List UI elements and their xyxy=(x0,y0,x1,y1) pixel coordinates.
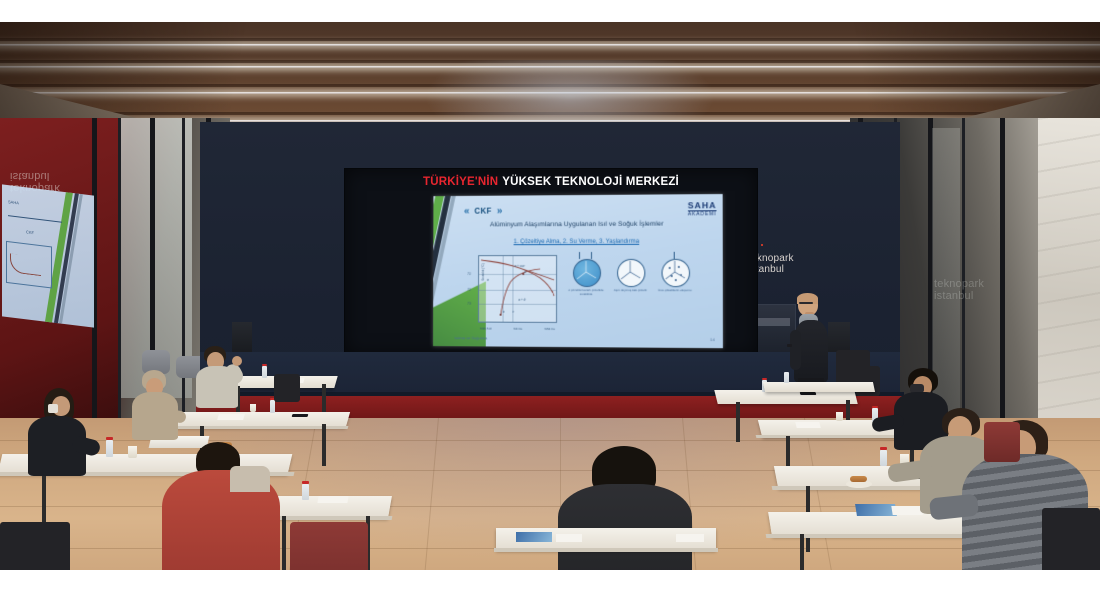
chair-accent xyxy=(290,522,368,570)
water-bottle xyxy=(262,366,267,378)
micro-diagram-2: Aşırı doymuş katı çözelti xyxy=(433,194,722,196)
smartphone xyxy=(800,392,817,395)
handout xyxy=(317,496,348,503)
presenter-table xyxy=(763,382,875,392)
phase-diagram: Sıcaklık (°C) α + sıvı xyxy=(478,255,557,323)
banner-white-text: YÜKSEK TEKNOLOJİ MERKEZİ xyxy=(502,176,679,188)
phase-diagram-xticks: %99,5 Al%4 Cu%54 Cu xyxy=(479,327,556,331)
presenter-clicker xyxy=(787,344,792,347)
led-video-wall: TÜRKİYE'NİN YÜKSEK TEKNOLOJİ MERKEZİ CKF xyxy=(344,168,758,356)
chair xyxy=(274,374,300,402)
paper-cup xyxy=(128,446,137,458)
paper-cup xyxy=(250,404,256,412)
presentation-slide: CKF SAHA AKADEMİ Alüminyum Alaşımlarına … xyxy=(433,194,723,348)
saha-akademi-logo: SAHA AKADEMİ xyxy=(688,201,717,218)
seminar-room-photo: teknopark istanbul SAHA CKF xyxy=(0,0,1100,600)
handout xyxy=(556,534,582,542)
paper-cup xyxy=(836,412,843,421)
handout xyxy=(795,422,820,428)
water-bottle xyxy=(784,372,789,383)
handout-blue xyxy=(516,532,552,542)
mirror-logo-right: teknopark istanbul xyxy=(934,278,984,302)
letterbox-top xyxy=(0,0,1100,22)
handout xyxy=(217,414,245,420)
chair xyxy=(1042,508,1100,570)
chair-accent xyxy=(984,422,1020,462)
handout xyxy=(891,506,922,515)
banner-red-text: TÜRKİYE'NİN xyxy=(423,176,498,188)
micro-diagram-1: α çözeltisi kararlı çözeltide sıcaklıkta xyxy=(433,194,722,196)
led-banner: TÜRKİYE'NİN YÜKSEK TEKNOLOJİ MERKEZİ xyxy=(345,173,757,191)
slide-subtitle: 1. Çözeltiye Alma, 2. Su Verme, 3. Yaşla… xyxy=(433,239,722,246)
smartphone xyxy=(292,414,309,417)
slide-page-number: 14 xyxy=(710,337,715,342)
water-bottle xyxy=(106,440,113,457)
letterbox-bottom xyxy=(0,570,1100,600)
chair xyxy=(0,522,70,570)
water-bottle xyxy=(270,400,275,413)
slide-reflection-left: SAHA CKF xyxy=(2,184,94,327)
presenter-chair xyxy=(836,350,870,384)
water-bottle xyxy=(880,450,887,466)
room-interior: teknopark istanbul SAHA CKF xyxy=(0,22,1100,570)
water-bottle xyxy=(302,484,309,500)
pastry xyxy=(850,476,867,482)
micro-diagram-3: İnce çökeltilerin oluşumu xyxy=(433,194,722,196)
slide-footer: Isıtma ve Soğutma xyxy=(454,335,487,340)
av-cabinet-label xyxy=(754,318,790,326)
presenter-glasses xyxy=(799,302,813,304)
ckf-logo: CKF xyxy=(463,204,504,219)
slide-title: Alüminyum Alaşımlarına Uygulanan Isıl ve… xyxy=(433,220,722,228)
handout xyxy=(676,534,704,542)
